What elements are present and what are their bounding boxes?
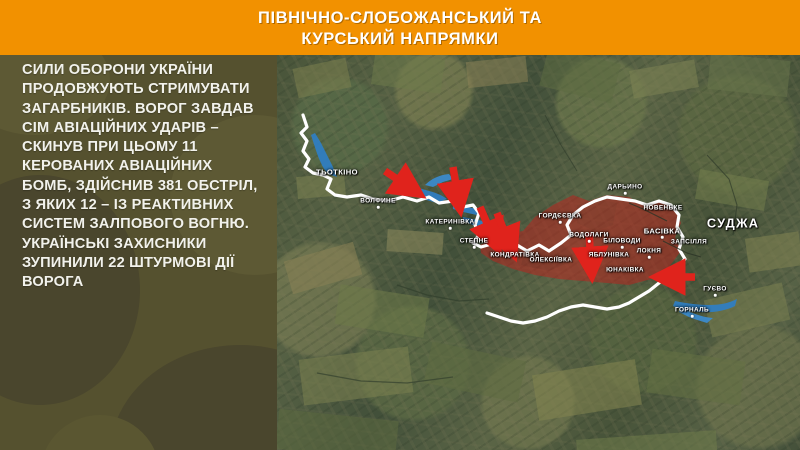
map-label-bilovody: БІЛОВОДИ <box>603 238 641 245</box>
map-dot-hujevo <box>714 294 717 297</box>
map-dot-hornal <box>691 315 694 318</box>
map-label-hordiejevka: ГОРДЄЄВКА <box>539 213 582 220</box>
map-label-novenke: НОВЕНЬКЕ <box>643 205 682 212</box>
map-area[interactable]: ТЬОТКІНОВОЛФИНЕКАТЕРИНІВКАСТЕПНЕКОНДРАТІ… <box>277 55 800 450</box>
summary-panel: Сили оборони України продовжують стримув… <box>0 55 277 450</box>
header-bar: ПІВНІЧНО-СЛОБОЖАНСЬКИЙ ТА КУРСЬКИЙ НАПРЯ… <box>0 0 800 55</box>
map-label-daryino: ДАРЬИНО <box>607 184 642 191</box>
arrow-stepne-2 <box>497 213 509 243</box>
map-dot-daryino <box>624 192 627 195</box>
map-dot-stepne <box>473 246 476 249</box>
arrow-stepne-1 <box>480 207 493 237</box>
map-label-hornal: ГОРНАЛЬ <box>675 307 709 314</box>
arrow-volfyne <box>385 171 409 187</box>
map-label-yunakivka: ЮНАКІВКА <box>606 267 644 274</box>
map-label-loknia: ЛОКНЯ <box>637 248 662 255</box>
map-dot-volfyne <box>377 206 380 209</box>
map-label-basivka: БАСІВКА <box>644 227 680 236</box>
summary-text: Сили оборони України продовжують стримув… <box>22 61 262 293</box>
map-label-oleksiivka: ОЛЕКСІЇВКА <box>530 257 573 264</box>
map-dot-loknia <box>648 256 651 259</box>
map-label-tyotkino: ТЬОТКІНО <box>316 168 358 177</box>
map-dot-katerynivka <box>449 227 452 230</box>
arrow-katerynivka <box>453 167 458 197</box>
page-title: ПІВНІЧНО-СЛОБОЖАНСЬКИЙ ТА КУРСЬКИЙ НАПРЯ… <box>0 8 800 50</box>
map-label-sudzha: СУДЖА <box>707 216 759 231</box>
infographic-screen: ПІВНІЧНО-СЛОБОЖАНСЬКИЙ ТА КУРСЬКИЙ НАПРЯ… <box>0 0 800 450</box>
map-label-hujevo: ГУЄВО <box>703 286 727 293</box>
map-label-yablunivka: ЯБЛУНІВКА <box>589 252 630 259</box>
map-label-zapsillia: ЗАПСІЛЛЯ <box>671 239 707 246</box>
map-label-stepne: СТЕПНЕ <box>460 238 489 245</box>
map-dot-hordiejevka <box>559 221 562 224</box>
map-dot-basivka <box>661 236 664 239</box>
map-dot-vodolahy <box>588 240 591 243</box>
map-label-volfyne: ВОЛФИНЕ <box>360 198 395 205</box>
map-label-katerynivka: КАТЕРИНІВКА <box>425 219 474 226</box>
map-dot-bilovody <box>621 246 624 249</box>
